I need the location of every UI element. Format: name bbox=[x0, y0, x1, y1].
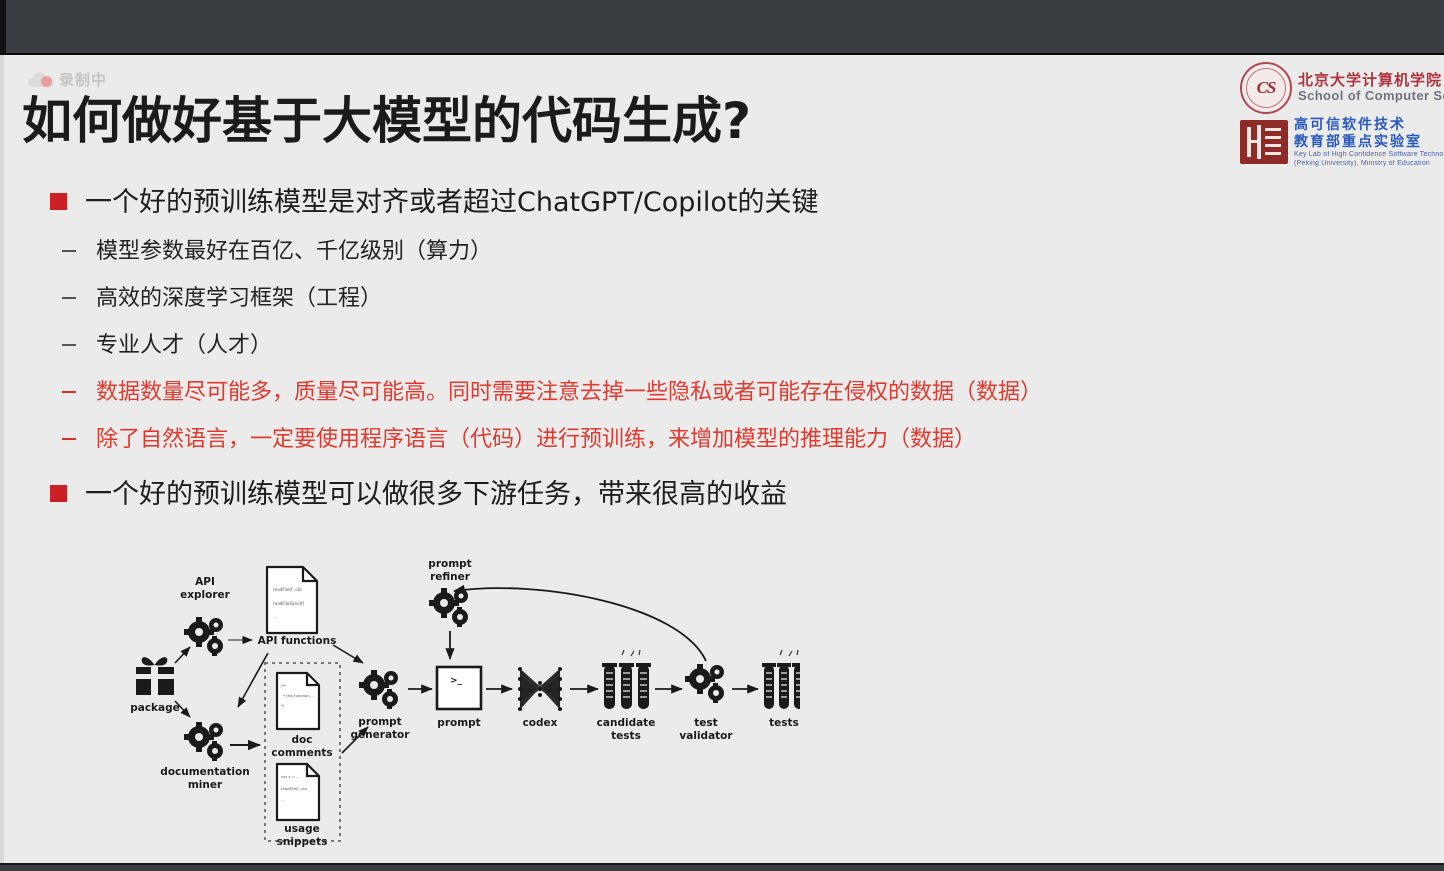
bullet-item-5: 数据数量尽可能多，质量尽可能高。同时需要注意去掉一些隐私或者可能存在侵权的数据（… bbox=[0, 378, 1444, 409]
codex-node: codex bbox=[518, 667, 562, 729]
page-title: 如何做好基于大模型的代码生成? bbox=[22, 81, 751, 153]
label-prompt-refiner-1: prompt bbox=[428, 558, 471, 570]
svg-text:/**: /** bbox=[281, 683, 286, 688]
label-documentation-miner-2: miner bbox=[188, 779, 223, 791]
svg-text:readFile(f, cb): readFile(f, cb) bbox=[273, 587, 302, 592]
seal-monogram: CS bbox=[1242, 78, 1290, 98]
label-documentation-miner-1: documentation bbox=[160, 766, 249, 778]
api-explorer-node: API explorer bbox=[180, 576, 231, 656]
bullet-item-6: 除了自然语言，一定要使用程序语言（代码）进行预训练，来增加模型的推理能力（数据） bbox=[0, 425, 1444, 456]
bullet-text: 除了自然语言，一定要使用程序语言（代码）进行预训练，来增加模型的推理能力（数据） bbox=[96, 425, 976, 456]
bullet-item-7: 一个好的预训练模型可以做很多下游任务，带来很高的收益 bbox=[0, 477, 1444, 513]
svg-text:var x = ...: var x = ... bbox=[281, 774, 300, 779]
svg-text:* this function ...: * this function ... bbox=[283, 693, 315, 698]
key-lab-text: 高可信软件技术 教育部重点实验室 Key Lab of High Confide… bbox=[1294, 116, 1444, 169]
label-prompt: prompt bbox=[437, 717, 480, 729]
key-lab-name-cn-1: 高可信软件技术 bbox=[1294, 116, 1444, 134]
svg-text:...: ... bbox=[281, 797, 285, 802]
label-prompt-glyph: >_ bbox=[450, 676, 463, 686]
label-usage-snippets-2: snippets bbox=[277, 836, 328, 848]
label-codex: codex bbox=[523, 717, 558, 729]
pku-seal-icon: CS bbox=[1240, 62, 1292, 114]
svg-text:...: ... bbox=[273, 614, 277, 619]
window-bottom-letterbox bbox=[0, 863, 1444, 871]
label-doc-comments-2: comments bbox=[271, 747, 332, 759]
square-bullet-icon bbox=[50, 193, 67, 210]
window-top-letterbox bbox=[0, 0, 1444, 55]
label-api-functions: API functions bbox=[258, 635, 337, 647]
bullet-item-1: 一个好的预训练模型是对齐或者超过ChatGPT/Copilot的关键 bbox=[0, 185, 1444, 221]
key-lab-logo: 高可信软件技术 教育部重点实验室 Key Lab of High Confide… bbox=[1240, 115, 1440, 169]
label-prompt-refiner-2: refiner bbox=[430, 571, 471, 583]
bullet-text: 高效的深度学习框架（工程） bbox=[96, 284, 382, 315]
test-validator-node: test validator bbox=[679, 664, 733, 742]
api-functions-file: readFile(f, cb) readFileSync(f) ... bbox=[267, 567, 317, 633]
bullet-item-2: 模型参数最好在百亿、千亿级别（算力） bbox=[0, 237, 1444, 268]
documentation-miner-node: documentation miner bbox=[160, 722, 249, 791]
label-prompt-generator-1: prompt bbox=[358, 716, 401, 728]
screen-capture: 录制中 如何做好基于大模型的代码生成? CS 北京大学计算机学院 School … bbox=[0, 0, 1444, 871]
key-lab-name-en-2: (Peking University), Ministry of Educati… bbox=[1294, 160, 1444, 169]
label-api-explorer-2: explorer bbox=[180, 589, 231, 601]
bullet-list: 一个好的预训练模型是对齐或者超过ChatGPT/Copilot的关键 模型参数最… bbox=[0, 185, 1444, 524]
bullet-text: 专业人才（人才） bbox=[96, 331, 272, 362]
candidate-tests-node: candidate tests bbox=[597, 650, 656, 742]
dash-bullet-icon bbox=[62, 297, 76, 299]
bullet-item-4: 专业人才（人才） bbox=[0, 331, 1444, 362]
square-bullet-icon bbox=[50, 485, 67, 502]
label-test-validator-2: validator bbox=[679, 730, 733, 742]
key-lab-emblem-icon bbox=[1240, 120, 1288, 164]
pku-cs-name-cn: 北京大学计算机学院 bbox=[1298, 72, 1444, 89]
label-tests: tests bbox=[769, 717, 799, 729]
dash-bullet-icon bbox=[62, 344, 76, 346]
bullet-text: 数据数量尽可能多，质量尽可能高。同时需要注意去掉一些隐私或者可能存在侵权的数据（… bbox=[96, 378, 1042, 409]
dash-bullet-icon bbox=[62, 438, 76, 440]
pku-cs-text: 北京大学计算机学院 School of Computer Science bbox=[1298, 72, 1444, 104]
key-lab-name-cn-2: 教育部重点实验室 bbox=[1294, 133, 1444, 151]
testpilot-pipeline-figure: package API explorer bbox=[120, 555, 800, 855]
label-usage-snippets-1: usage bbox=[284, 823, 319, 835]
svg-text:readFile(f, cb): readFile(f, cb) bbox=[281, 786, 308, 791]
prompt-generator-node: prompt generator bbox=[351, 670, 411, 741]
label-api-explorer-1: API bbox=[195, 576, 215, 588]
label-test-validator-1: test bbox=[694, 717, 717, 729]
logo-group: CS 北京大学计算机学院 School of Computer Science … bbox=[1240, 61, 1440, 169]
svg-text:readFileSync(f): readFileSync(f) bbox=[273, 601, 305, 606]
key-lab-name-en-1: Key Lab of High Confidence Software Tech… bbox=[1294, 151, 1444, 160]
tests-node: tests bbox=[762, 650, 800, 729]
label-prompt-generator-2: generator bbox=[351, 729, 411, 741]
prompt-node: >_ prompt bbox=[437, 667, 481, 729]
bullet-text: 一个好的预训练模型可以做很多下游任务，带来很高的收益 bbox=[85, 477, 787, 513]
package-node: package bbox=[130, 657, 180, 714]
pku-cs-name-en: School of Computer Science bbox=[1298, 89, 1444, 104]
presentation-slide: 录制中 如何做好基于大模型的代码生成? CS 北京大学计算机学院 School … bbox=[0, 55, 1444, 863]
dash-bullet-icon bbox=[62, 250, 76, 252]
prompt-refiner-node: prompt refiner bbox=[428, 558, 471, 627]
usage-snippets-file: var x = ... readFile(f, cb) ... usage sn… bbox=[277, 764, 328, 848]
bullet-text: 模型参数最好在百亿、千亿级别（算力） bbox=[96, 237, 492, 268]
bullet-item-3: 高效的深度学习框架（工程） bbox=[0, 284, 1444, 315]
bullet-text: 一个好的预训练模型是对齐或者超过ChatGPT/Copilot的关键 bbox=[85, 185, 819, 221]
label-doc-comments-1: doc bbox=[292, 734, 313, 746]
doc-comments-file: /** * this function ... */ doc comments bbox=[271, 673, 332, 759]
label-package: package bbox=[130, 702, 180, 714]
pku-cs-logo: CS 北京大学计算机学院 School of Computer Science bbox=[1240, 61, 1440, 115]
dash-bullet-icon bbox=[62, 391, 76, 393]
label-candidate-tests-1: candidate bbox=[597, 717, 656, 729]
label-candidate-tests-2: tests bbox=[611, 730, 641, 742]
